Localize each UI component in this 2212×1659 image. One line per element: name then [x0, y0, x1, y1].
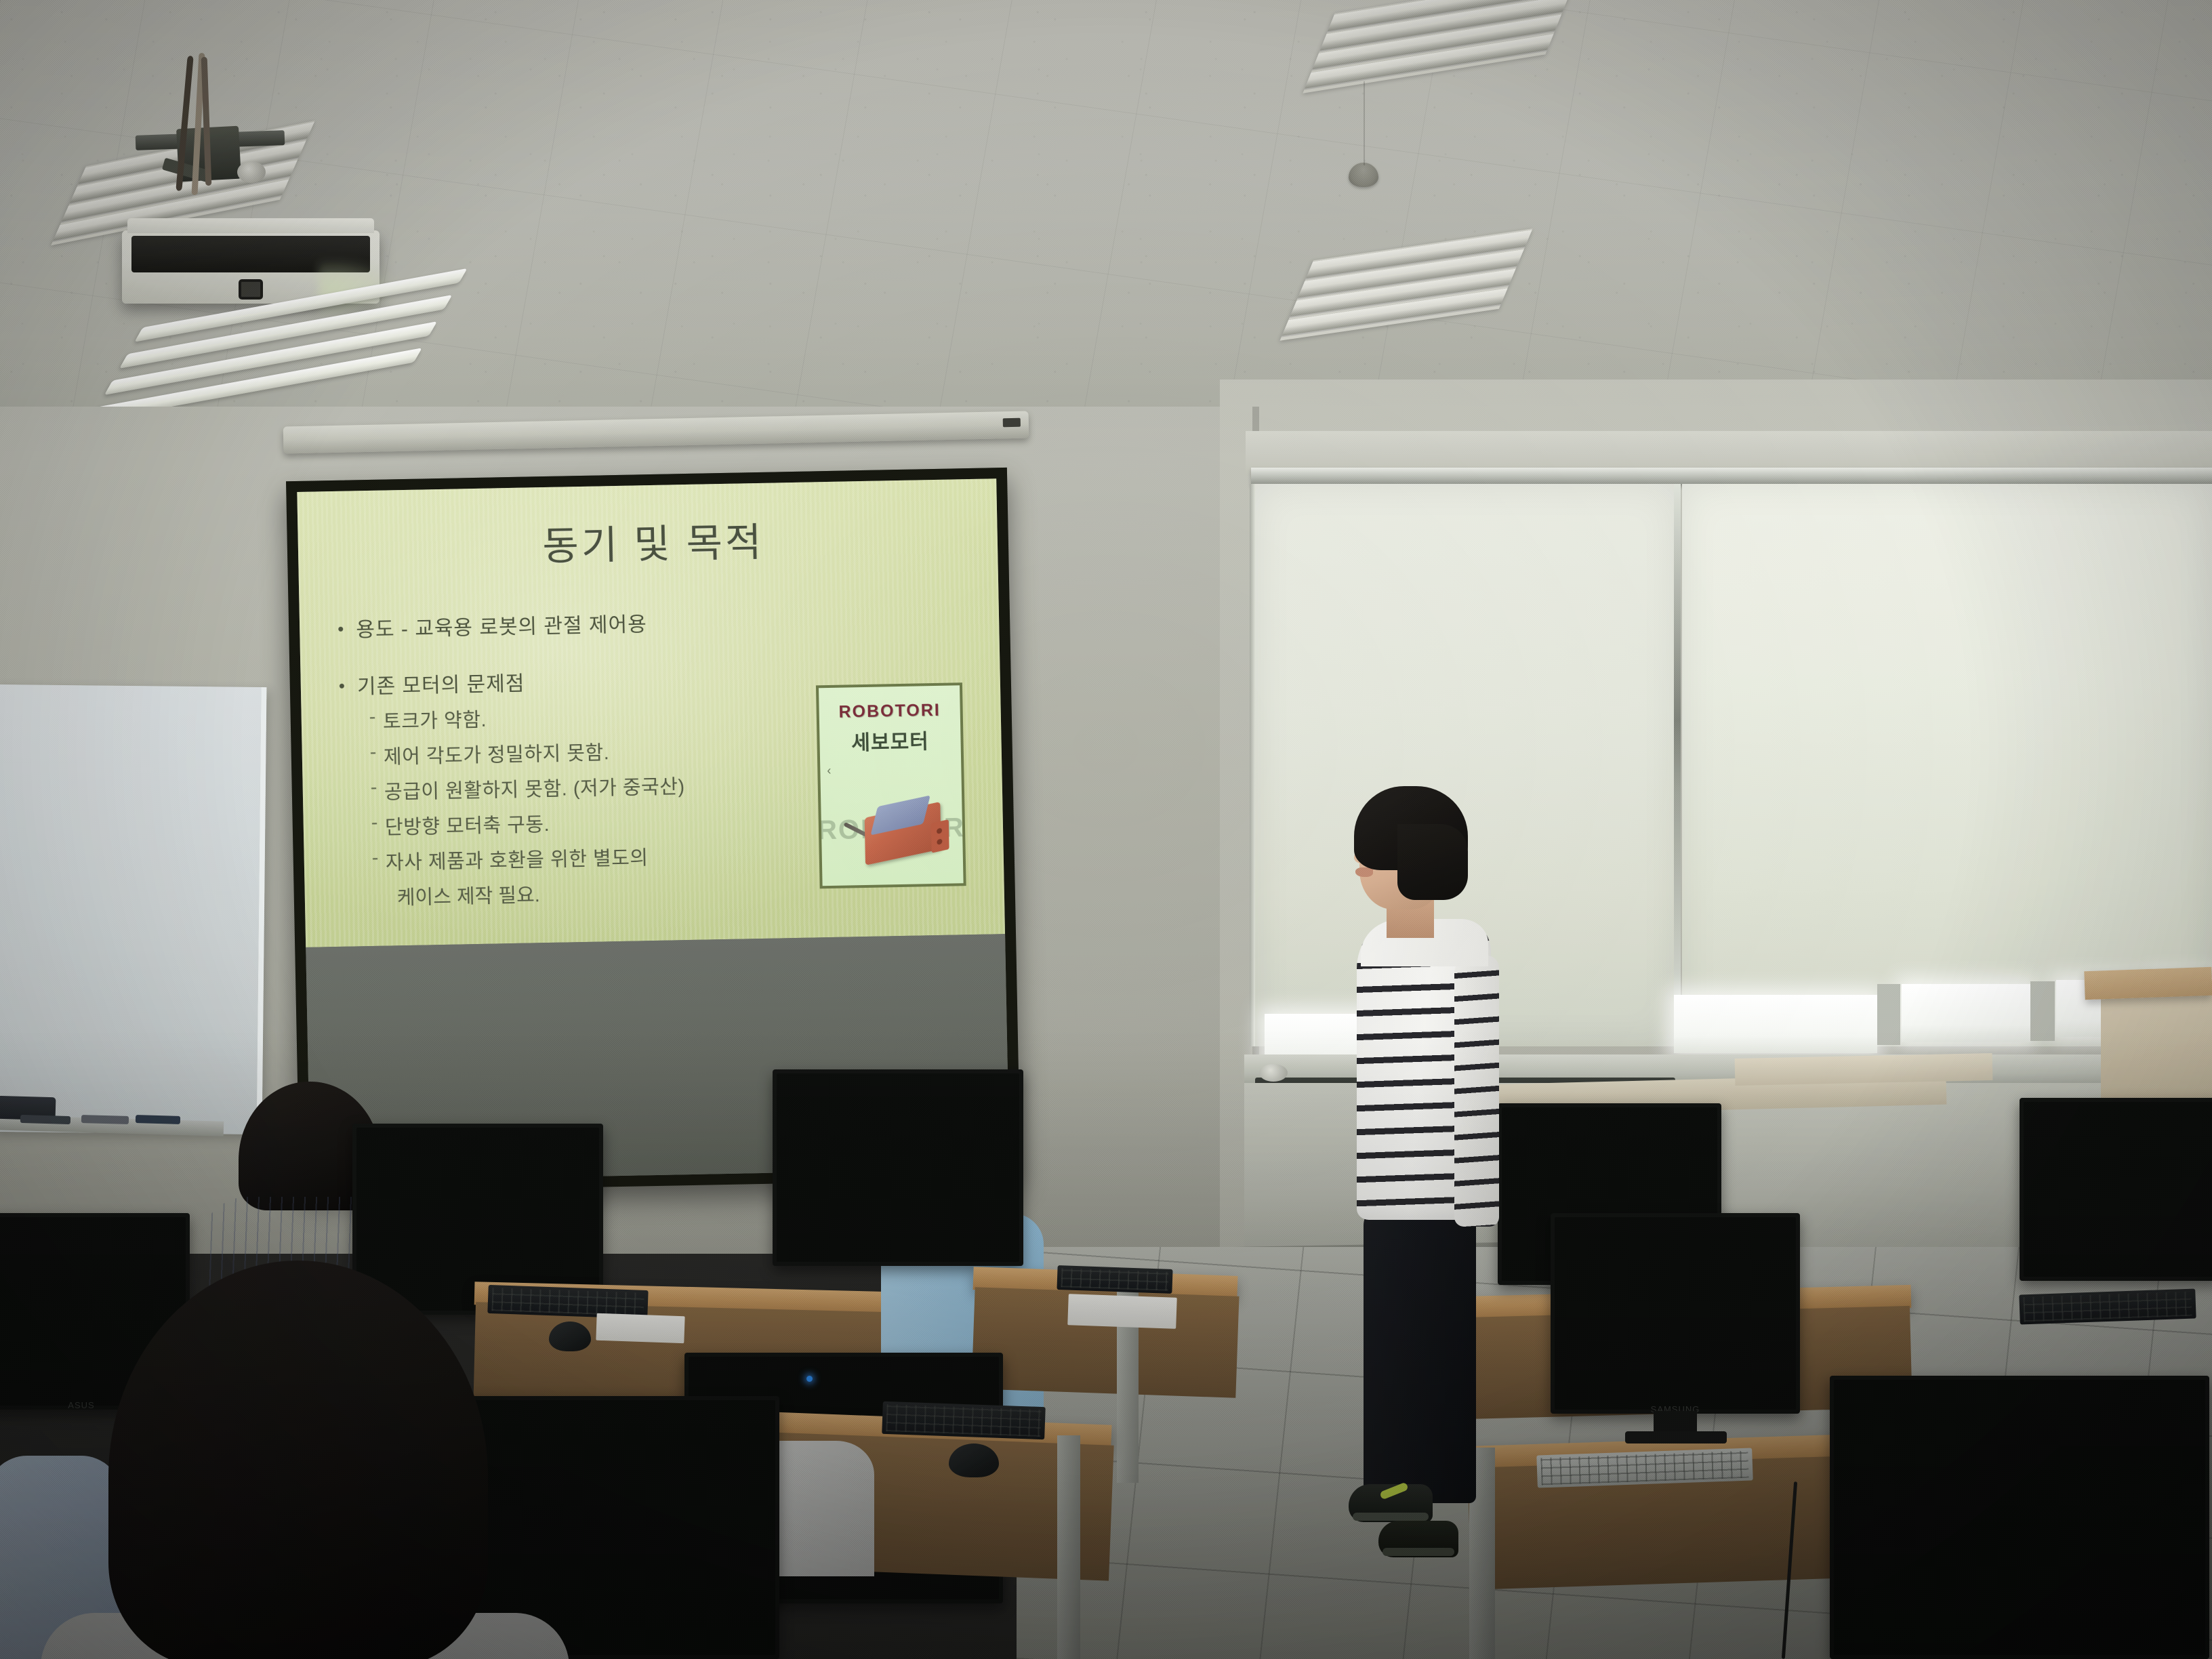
paper-sheet[interactable]: [596, 1313, 684, 1344]
monitor-base: [1625, 1431, 1727, 1443]
podium-body: [2101, 994, 2212, 1102]
window-light-strip: [1902, 984, 2030, 1042]
bullet-marker-icon: •: [337, 620, 344, 638]
window-mullion: [2030, 981, 2055, 1041]
projector-lens-icon: [239, 279, 263, 300]
dash-marker-icon: -: [370, 777, 377, 805]
monitor-power-led: [806, 1376, 813, 1382]
whiteboard-marker[interactable]: [136, 1115, 180, 1124]
bullet-text: 기존 모터의 문제점: [356, 667, 525, 700]
sprinkler-icon: [1349, 163, 1378, 187]
dash-marker-icon: -: [371, 847, 379, 876]
servo-motor-image: [859, 789, 948, 865]
product-brand-label: ROBOTORI: [819, 700, 960, 722]
keyboard[interactable]: [882, 1401, 1046, 1439]
sub-bullet-text: 토크가 약함.: [383, 704, 487, 735]
presenter-shoe: [1378, 1521, 1458, 1557]
podium-top[interactable]: [2084, 967, 2212, 1000]
sub-bullet-text: 제어 각도가 정밀하지 못함.: [384, 737, 610, 769]
sub-bullet-text: 단방향 모터축 구동.: [385, 808, 550, 840]
back-counter-upper: [1735, 1053, 1993, 1086]
product-subtitle-label: 세보모터: [819, 724, 961, 756]
screen-pull-knob-icon[interactable]: [1003, 418, 1021, 428]
presenter[interactable]: [1322, 786, 1491, 1538]
monitor[interactable]: [773, 1069, 1023, 1266]
blind-seam: [1674, 484, 1681, 1046]
monitor[interactable]: [1830, 1376, 2209, 1659]
window-light-strip: [1674, 995, 1877, 1053]
whiteboard-marker[interactable]: [20, 1115, 70, 1124]
product-image-card: ROBOTORI 세보모터 ROBOTORI ‹: [816, 682, 966, 888]
presenter-legs: [1364, 1205, 1476, 1503]
keyboard[interactable]: [1057, 1265, 1172, 1294]
dash-marker-icon: -: [369, 741, 377, 770]
slide-title: 동기 및 목적: [335, 506, 970, 575]
paper-sheet[interactable]: [1067, 1294, 1177, 1329]
monitor-brand-label: ASUS: [68, 1400, 94, 1410]
monitor-stand: [1654, 1411, 1697, 1434]
servo-mount-ear-icon: [931, 819, 949, 853]
presenter-hair-back: [1397, 824, 1468, 900]
keyboard[interactable]: [2019, 1288, 2196, 1324]
whiteboard[interactable]: [0, 684, 266, 1134]
radiator-valve-icon[interactable]: [1259, 1064, 1288, 1082]
sub-bullet-text: 공급이 원활하지 못함. (저가 중국산): [384, 771, 685, 805]
desk-leg: [1057, 1435, 1080, 1659]
presentation-slide: 동기 및 목적 • 용도 - 교육용 로봇의 관절 제어용 • 기존 모터의 문…: [297, 478, 1005, 947]
classroom-scene: 동기 및 목적 • 용도 - 교육용 로봇의 관절 제어용 • 기존 모터의 문…: [0, 0, 2212, 1659]
blind-edge: [1250, 484, 1255, 1046]
roller-blind-right[interactable]: [1682, 484, 2212, 1046]
chevron-left-icon: ‹: [827, 764, 831, 778]
monitor[interactable]: SAMSUNG: [1551, 1213, 1800, 1414]
blind-rail[interactable]: [1251, 468, 2212, 485]
sub-bullet-text: 자사 제품과 호환을 위한 별도의: [386, 842, 649, 875]
dash-marker-icon: -: [371, 812, 378, 840]
window-mullion: [1877, 984, 1900, 1045]
presenter-arm: [1454, 956, 1499, 1227]
monitor[interactable]: [2020, 1098, 2212, 1281]
mouse[interactable]: [549, 1322, 591, 1351]
bullet-text: 용도 - 교육용 로봇의 관절 제어용: [356, 607, 647, 642]
bullet-marker-icon: •: [339, 677, 346, 695]
whiteboard-marker[interactable]: [81, 1115, 129, 1124]
dash-marker-icon: -: [369, 706, 376, 735]
presenter-lips: [1355, 867, 1373, 877]
presenter-sleeve-stripes: [1454, 956, 1499, 1227]
